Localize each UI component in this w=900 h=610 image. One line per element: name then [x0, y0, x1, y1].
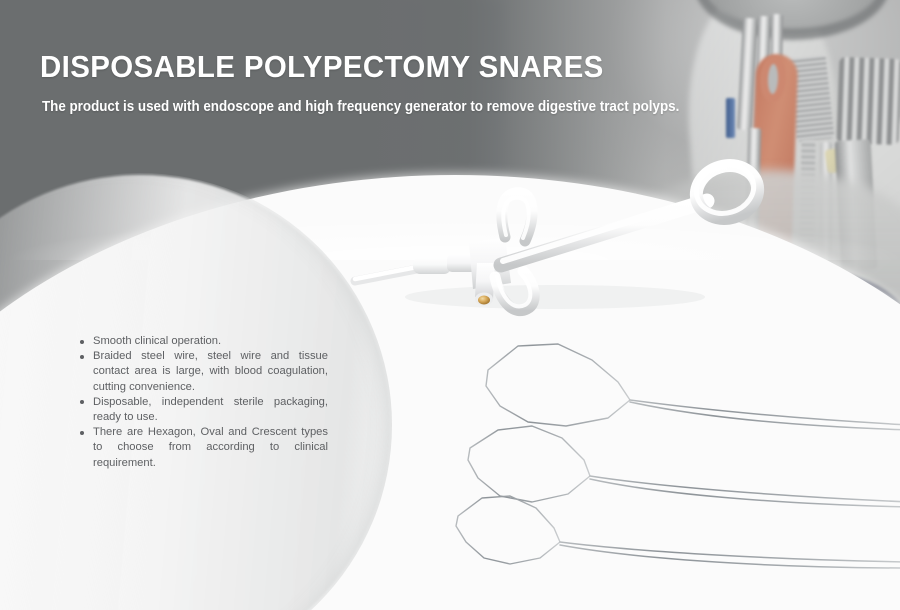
feature-list: Smooth clinical operation. Braided steel…: [78, 334, 328, 471]
polypectomy-snare-handle: [355, 165, 795, 325]
snare-loop-2-shaft-upper: [590, 476, 900, 502]
page-subtitle: The product is used with endoscope and h…: [42, 99, 679, 115]
brass-connector-pin: [478, 296, 490, 305]
device-shadow: [405, 285, 705, 309]
snare-loop-3-wire: [456, 496, 560, 564]
feature-list-item: Braided steel wire, steel wire and tissu…: [78, 349, 328, 395]
product-banner: DISPOSABLE POLYPECTOMY SNARES The produc…: [0, 0, 900, 610]
page-title: DISPOSABLE POLYPECTOMY SNARES: [40, 49, 604, 85]
snare-loop-1-shaft-lower: [630, 402, 900, 430]
snare-loop-2: [468, 426, 900, 507]
snare-loop-1-wire: [486, 344, 630, 426]
snare-loop-1: [486, 344, 900, 430]
snare-loop-2-wire: [468, 426, 590, 502]
sheath-collar: [413, 257, 451, 274]
snare-loop-3: [456, 496, 900, 568]
feature-list-item: There are Hexagon, Oval and Crescent typ…: [78, 425, 328, 471]
feature-list-item: Disposable, independent sterile packagin…: [78, 395, 328, 425]
feature-list-item: Smooth clinical operation.: [78, 334, 328, 349]
snare-loops-group: [440, 330, 900, 590]
